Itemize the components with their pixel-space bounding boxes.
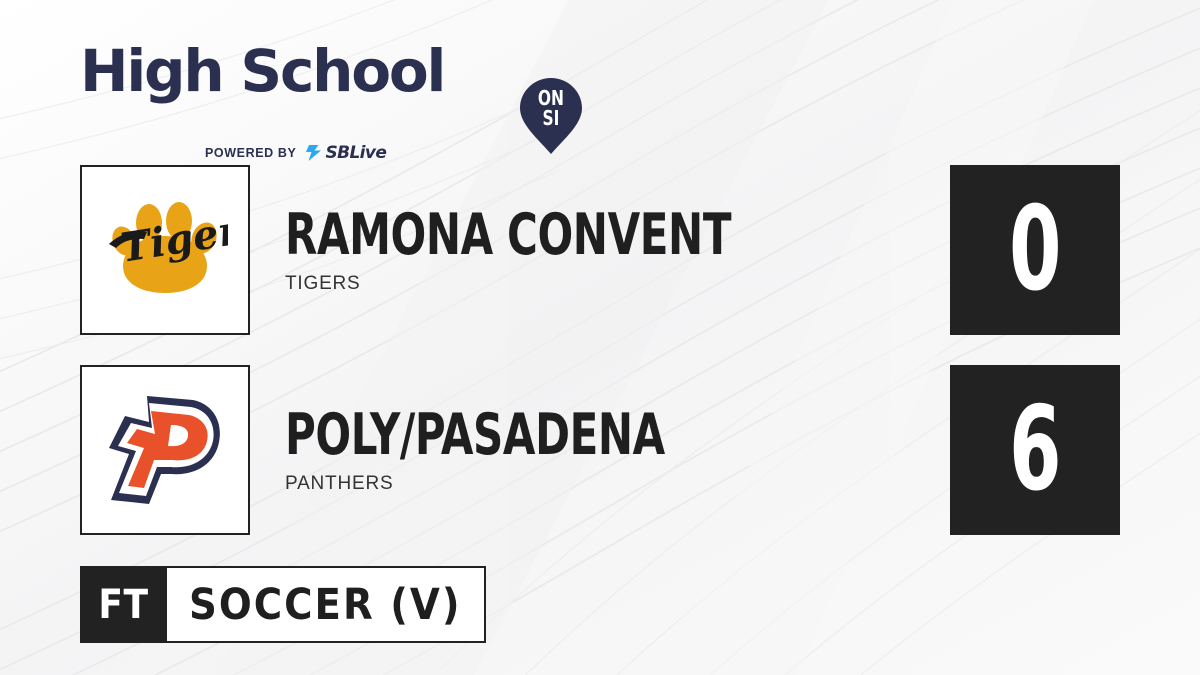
game-status-bar: FT SOCCER (V) xyxy=(80,566,486,643)
sblive-bolt-icon xyxy=(305,144,322,162)
sport-label: SOCCER (V) xyxy=(167,566,486,643)
sblive-wordmark: SBLive xyxy=(325,143,386,163)
team-row: Tigers RAMONA CONVENT TIGERS 0 xyxy=(0,165,1200,335)
brand-header: High School ON SI POWERED BY SBLive xyxy=(80,36,600,136)
sblive-logo: SBLive xyxy=(305,143,386,163)
team-score-box: 6 xyxy=(950,365,1120,535)
on-si-pin-icon: ON SI xyxy=(517,76,585,156)
team-name: POLY/PASADENA xyxy=(285,406,810,464)
team-logo-card xyxy=(80,365,250,535)
powered-by-label: POWERED BY xyxy=(205,143,296,163)
team-score: 6 xyxy=(1009,392,1061,508)
team-mascot: TIGERS xyxy=(285,273,925,295)
team-info: RAMONA CONVENT TIGERS xyxy=(285,165,925,335)
status-badge: FT xyxy=(80,566,167,643)
powered-by-row: POWERED BY SBLive xyxy=(205,143,386,163)
team-row: POLY/PASADENA PANTHERS 6 xyxy=(0,365,1200,535)
team-mascot: PANTHERS xyxy=(285,473,925,495)
svg-text:SI: SI xyxy=(543,108,560,131)
poly-p-logo-icon xyxy=(105,392,225,508)
team-score: 0 xyxy=(1009,192,1061,308)
team-info: POLY/PASADENA PANTHERS xyxy=(285,365,925,535)
team-score-box: 0 xyxy=(950,165,1120,335)
team-logo-card: Tigers xyxy=(80,165,250,335)
tigers-paw-logo-icon: Tigers xyxy=(103,194,228,306)
brand-wordmark: High School xyxy=(80,36,444,106)
team-name: RAMONA CONVENT xyxy=(285,206,810,264)
